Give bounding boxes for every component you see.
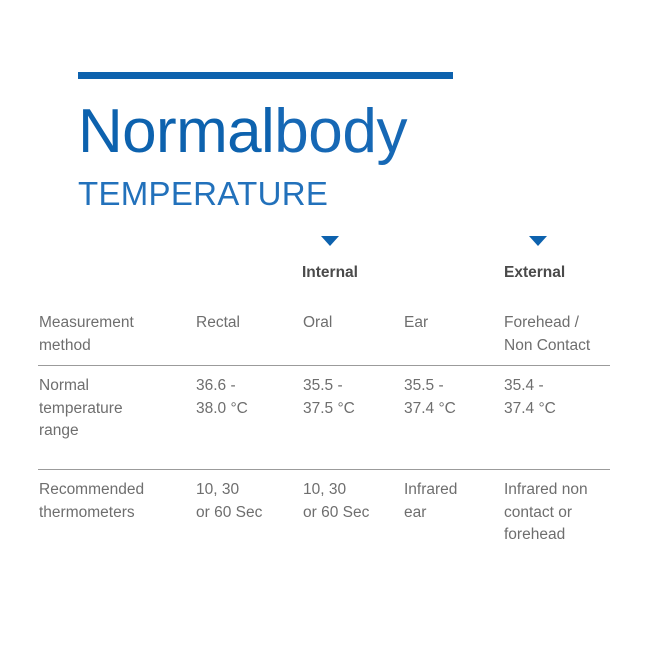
triangle-down-icon-internal [321,236,339,246]
row-label-recommended-thermometers: Recommended thermometers [39,479,191,524]
cell-forehead-thermometer: Infrared non contact or forehead [504,479,614,547]
group-label-external: External [504,263,565,283]
column-header-forehead: Forehead / Non Contact [504,312,614,357]
cell-rectal-range: 36.6 - 38.0 °C [196,375,296,420]
page-title: Normalbody [78,97,598,167]
column-header-oral: Oral [303,312,401,335]
table-row-normal-temperature-range: Normal temperature range 36.6 - 38.0 °C … [0,365,668,469]
temperature-table: Measurement method Rectal Oral Ear Foreh… [0,302,668,569]
group-label-internal: Internal [302,263,358,283]
title-strong-word: Normal [78,97,274,166]
triangle-down-icon-external [529,236,547,246]
cell-oral-thermometer: 10, 30 or 60 Sec [303,479,401,524]
infographic-page: Normalbody TEMPERATURE Internal External… [0,0,668,668]
column-header-ear: Ear [404,312,500,335]
table-row-recommended-thermometers: Recommended thermometers 10, 30 or 60 Se… [0,469,668,569]
table-header-row: Measurement method Rectal Oral Ear Foreh… [0,302,668,365]
cell-rectal-thermometer: 10, 30 or 60 Sec [196,479,296,524]
title-light-word: body [274,97,407,166]
row-label-normal-temperature-range: Normal temperature range [39,375,191,443]
column-header-measurement-method: Measurement method [39,312,191,357]
cell-oral-range: 35.5 - 37.5 °C [303,375,401,420]
cell-forehead-range: 35.4 - 37.4 °C [504,375,614,420]
header-accent-rule [78,72,453,79]
column-header-rectal: Rectal [196,312,296,335]
cell-ear-thermometer: Infrared ear [404,479,500,524]
page-subtitle: TEMPERATURE [78,175,328,213]
cell-ear-range: 35.5 - 37.4 °C [404,375,500,420]
